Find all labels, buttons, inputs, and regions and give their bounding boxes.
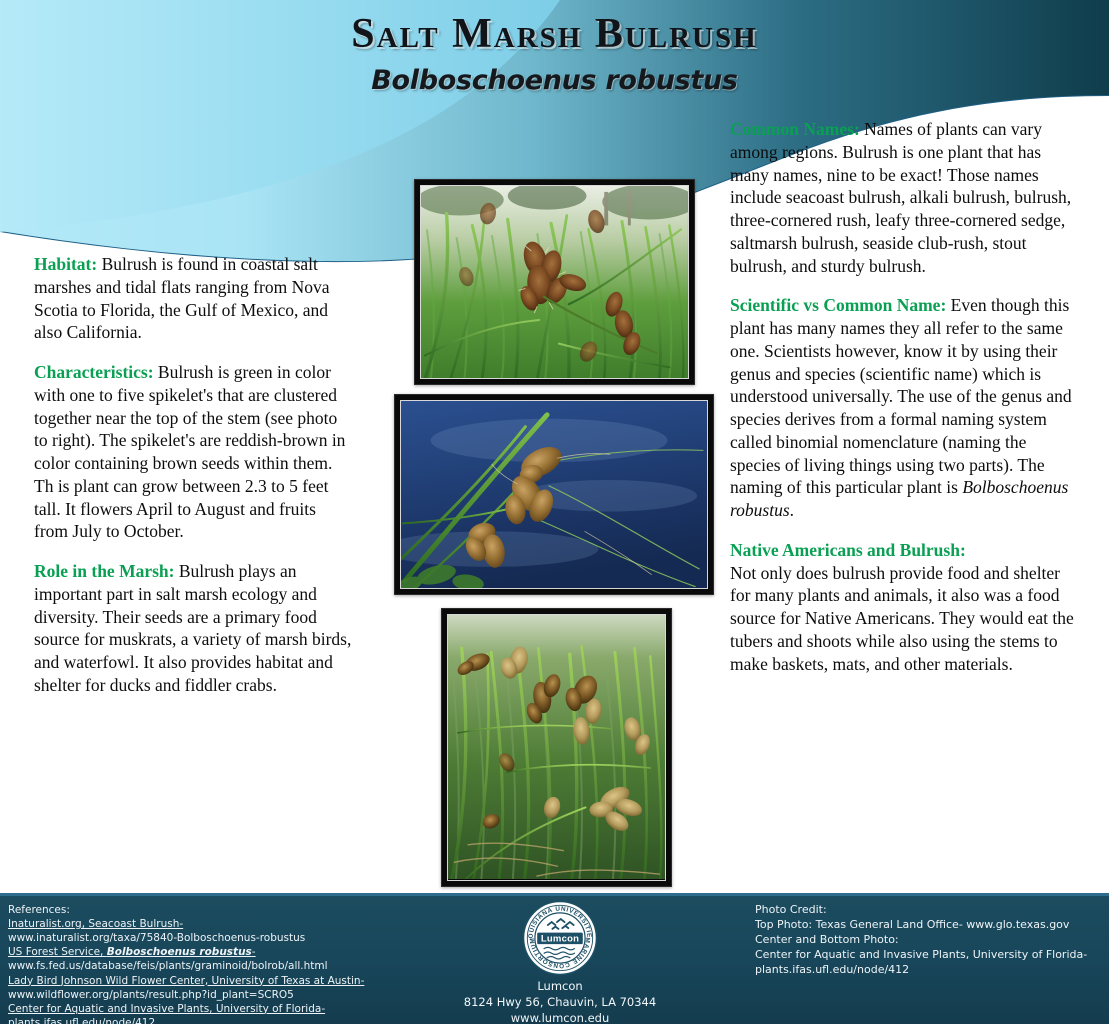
reference-source-3[interactable]: Lady Bird Johnson Wild Flower Center, Un… (8, 975, 364, 987)
lumcon-seal-logo-icon: LOUISIANA UNIVERSITIES MARINE CONSORTIUM… (522, 900, 598, 976)
right-text-column: Common Names: Names of plants can vary a… (730, 118, 1075, 692)
photo-credit-label: Photo Credit: (755, 903, 1105, 918)
section-scientific-vs-common-name-body: Even though this plant has many names th… (730, 295, 1072, 497)
section-scientific-vs-common-name-body-tail: . (790, 500, 794, 520)
section-common-names-body: Names of plants can vary among regions. … (730, 119, 1071, 276)
photo-credit-line: Top Photo: Texas General Land Office- ww… (755, 918, 1105, 933)
organization-website[interactable]: www.lumcon.edu (455, 1011, 665, 1024)
reference-item: Center for Aquatic and Invasive Plants, … (8, 1002, 428, 1016)
poster-canvas: Salt Marsh Bulrush Bolboschoenus robustu… (0, 0, 1109, 1024)
footer-bar: References: Inaturalist.org, Seacoast Bu… (0, 893, 1109, 1024)
reference-url-1[interactable]: www.inaturalist.org/taxa/75840-Bolboscho… (8, 931, 428, 945)
reference-item: Lady Bird Johnson Wild Flower Center, Un… (8, 974, 428, 988)
photo-credit-line: Center for Aquatic and Invasive Plants, … (755, 948, 1105, 963)
section-scientific-vs-common-name-heading: Scientific vs Common Name: (730, 295, 946, 315)
photo-bottom-image (447, 614, 666, 881)
reference-item: US Forest Service, Bolboschoenus robustu… (8, 945, 428, 959)
photo-top-image (420, 185, 689, 379)
photo-credit-line: Center and Bottom Photo: (755, 933, 1105, 948)
photo-credit-line: plants.ifas.ufl.edu/node/412 (755, 963, 1105, 978)
reference-item: Inaturalist.org, Seacoast Bulrush- (8, 917, 428, 931)
photo-center-image (400, 400, 708, 589)
organization-address: 8124 Hwy 56, Chauvin, LA 70344 (455, 995, 665, 1011)
reference-url-4[interactable]: plants.ifas.ufl.edu/node/412 (8, 1016, 428, 1024)
section-habitat: Habitat: Bulrush is found in coastal sal… (34, 253, 354, 344)
section-characteristics-heading: Characteristics: (34, 362, 154, 382)
section-native-americans-and-bulrush-body: Not only does bulrush provide food and s… (730, 563, 1074, 674)
section-characteristics-body: Bulrush is green in color with one to fi… (34, 362, 345, 541)
reference-url-3[interactable]: www.wildflower.org/plants/result.php?id_… (8, 988, 428, 1002)
section-role-in-the-marsh-heading: Role in the Marsh: (34, 561, 174, 581)
section-role-in-the-marsh: Role in the Marsh: Bulrush plays an impo… (34, 560, 354, 697)
seal-wordmark: Lumcon (541, 933, 579, 944)
reference-source-1[interactable]: Inaturalist.org, Seacoast Bulrush- (8, 918, 183, 930)
marsh-grass-scene (421, 186, 688, 379)
organization-name: Lumcon (455, 979, 665, 995)
bulrush-over-water-scene (401, 401, 707, 589)
reference-source-4[interactable]: Center for Aquatic and Invasive Plants, … (8, 1003, 325, 1015)
reference-source-2[interactable]: US Forest Service, (8, 946, 107, 958)
section-characteristics: Characteristics: Bulrush is green in col… (34, 361, 354, 543)
section-scientific-vs-common-name: Scientific vs Common Name: Even though t… (730, 294, 1075, 522)
section-common-names-heading: Common Names: (730, 119, 860, 139)
references-block: References: Inaturalist.org, Seacoast Bu… (8, 903, 428, 1024)
organization-block: LOUISIANA UNIVERSITIES MARINE CONSORTIUM… (455, 900, 665, 1024)
reference-source-2-tail[interactable]: - (252, 946, 256, 958)
photo-top-frame (414, 179, 695, 385)
section-common-names: Common Names: Names of plants can vary a… (730, 118, 1075, 277)
left-text-column: Habitat: Bulrush is found in coastal sal… (34, 253, 354, 714)
reference-source-2-italic[interactable]: Bolboschoenus robustus (107, 946, 252, 958)
photo-center-frame (394, 394, 714, 595)
section-role-in-the-marsh-body: Bulrush plays an important part in salt … (34, 561, 351, 695)
references-label: References: (8, 903, 428, 917)
reference-url-2[interactable]: www.fs.fed.us/database/feis/plants/grami… (8, 959, 428, 973)
section-habitat-heading: Habitat: (34, 254, 97, 274)
section-native-americans-and-bulrush-heading: Native Americans and Bulrush: (730, 539, 1075, 562)
photo-credit-block: Photo Credit: Top Photo: Texas General L… (755, 903, 1105, 978)
section-native-americans-and-bulrush: Native Americans and Bulrush:Not only do… (730, 539, 1075, 676)
photo-bottom-frame (441, 608, 672, 887)
dense-marsh-stand-scene (448, 615, 665, 879)
